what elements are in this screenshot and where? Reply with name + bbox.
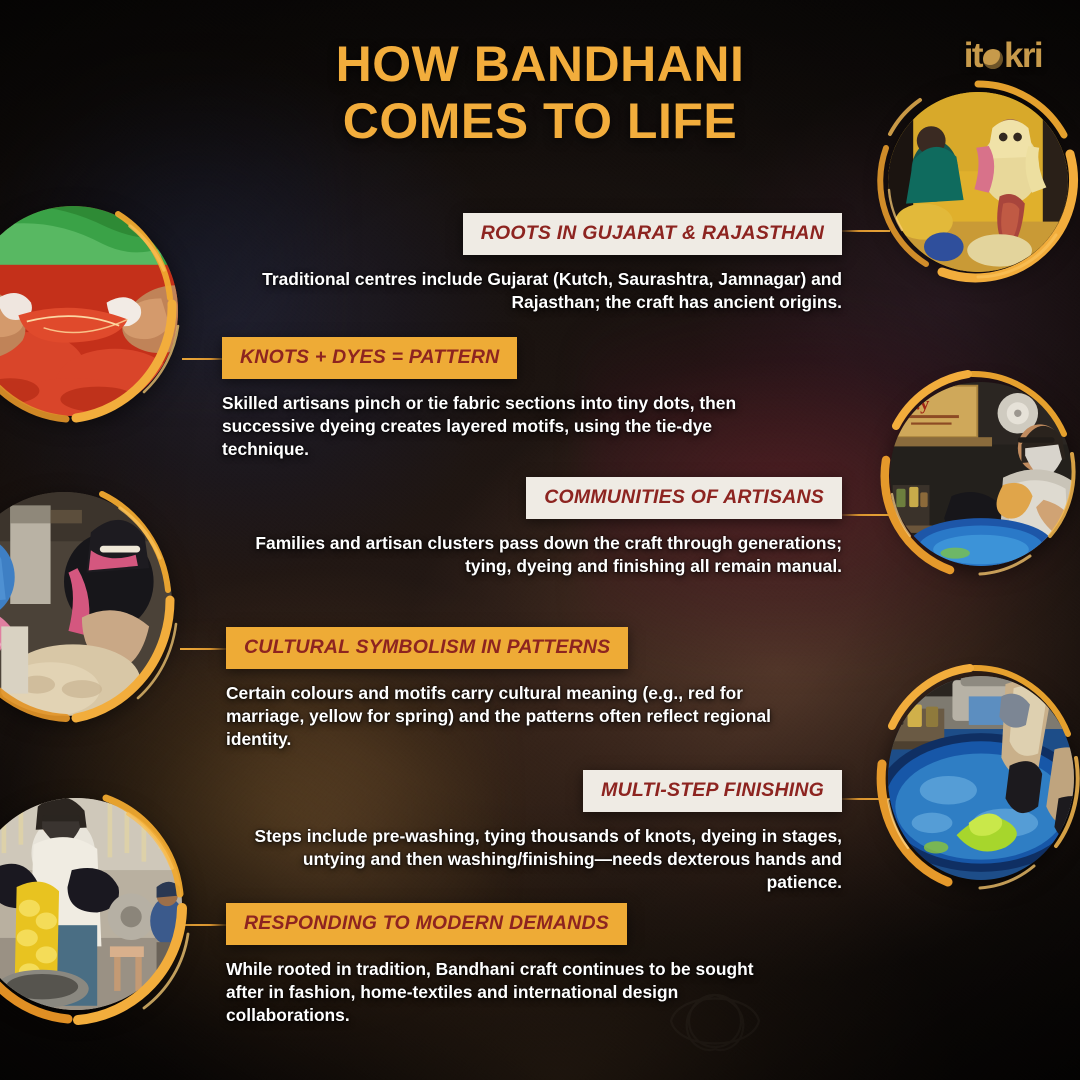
section-heading-communities: COMMUNITIES OF ARTISANS (526, 477, 842, 519)
brand-logo-suffix: kri (1004, 36, 1042, 75)
photo-indigo-dye-bath (874, 662, 1080, 894)
photo-disc: y.y (890, 382, 1072, 566)
section-roots: ROOTS IN GUJARAT & RAJASTHAN Traditional… (250, 213, 842, 314)
section-body-communities: Families and artisan clusters pass down … (248, 532, 842, 578)
section-body-multi-step-finishing: Steps include pre-washing, tying thousan… (250, 825, 842, 894)
page-title: HOW BANDHANI COMES TO LIFE (0, 36, 1080, 150)
section-body-cultural-symbolism: Certain colours and motifs carry cultura… (226, 682, 796, 751)
photo-disc (0, 492, 172, 716)
photo-hands-tying-red-fabric (0, 192, 192, 430)
svg-text:y.y: y.y (907, 394, 930, 414)
page-title-line-1: HOW BANDHANI (0, 36, 1080, 93)
section-multi-step-finishing: MULTI-STEP FINISHING Steps include pre-w… (250, 770, 842, 894)
photo-disc (0, 798, 182, 1010)
section-body-roots: Traditional centres include Gujarat (Kut… (250, 268, 842, 314)
photo-women-untying-cream-cloth (0, 478, 186, 730)
brand-logo-itokri[interactable]: itkri (964, 38, 1042, 73)
photo-artisan-lifting-yellow-cloth (0, 784, 196, 1024)
section-heading-multi-step-finishing: MULTI-STEP FINISHING (583, 770, 842, 812)
section-cultural-symbolism: CULTURAL SYMBOLISM IN PATTERNS Certain c… (226, 627, 796, 751)
photo-disc (0, 206, 178, 416)
brand-logo-o-icon (983, 49, 1003, 69)
page-title-line-2: COMES TO LIFE (0, 93, 1080, 150)
infographic-canvas: HOW BANDHANI COMES TO LIFE itkri (0, 0, 1080, 1080)
photo-disc (888, 676, 1074, 880)
section-modern-demands: RESPONDING TO MODERN DEMANDS While roote… (226, 903, 788, 1027)
connector-line-cultural (180, 648, 230, 650)
section-body-knots-dyes: Skilled artisans pinch or tie fabric sec… (222, 392, 782, 461)
brand-logo-prefix: it (964, 36, 982, 75)
section-heading-knots-dyes: KNOTS + DYES = PATTERN (222, 337, 517, 379)
section-heading-modern-demands: RESPONDING TO MODERN DEMANDS (226, 903, 627, 945)
section-knots-dyes: KNOTS + DYES = PATTERN Skilled artisans … (222, 337, 782, 461)
section-communities: COMMUNITIES OF ARTISANS Families and art… (248, 477, 842, 578)
section-body-modern-demands: While rooted in tradition, Bandhani craf… (226, 958, 788, 1027)
section-heading-roots: ROOTS IN GUJARAT & RAJASTHAN (463, 213, 842, 255)
photo-dyer-at-blue-vat: y.y (876, 368, 1080, 580)
section-heading-cultural-symbolism: CULTURAL SYMBOLISM IN PATTERNS (226, 627, 628, 669)
